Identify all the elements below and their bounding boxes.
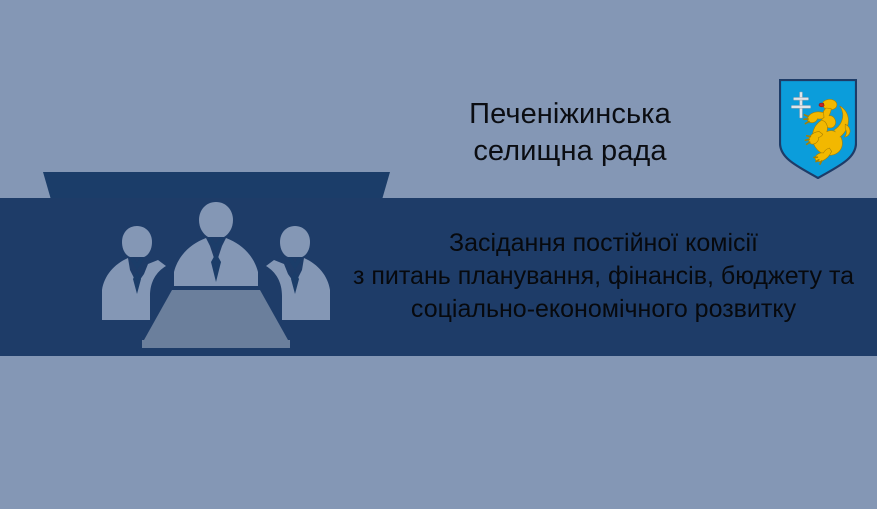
announcement-text: Засідання постійної комісії з питань пла… — [330, 197, 877, 357]
table-edge — [142, 340, 290, 348]
person-right — [266, 226, 330, 320]
conference-table — [144, 290, 288, 340]
organization-title: Печеніжинська селищна рада — [380, 96, 760, 170]
coat-of-arms-icon — [779, 79, 857, 179]
committee-meeting-icon — [100, 200, 332, 350]
announcement-banner: Печеніжинська селищна рада — [0, 0, 877, 509]
person-center — [174, 202, 258, 286]
person-left — [102, 226, 166, 320]
